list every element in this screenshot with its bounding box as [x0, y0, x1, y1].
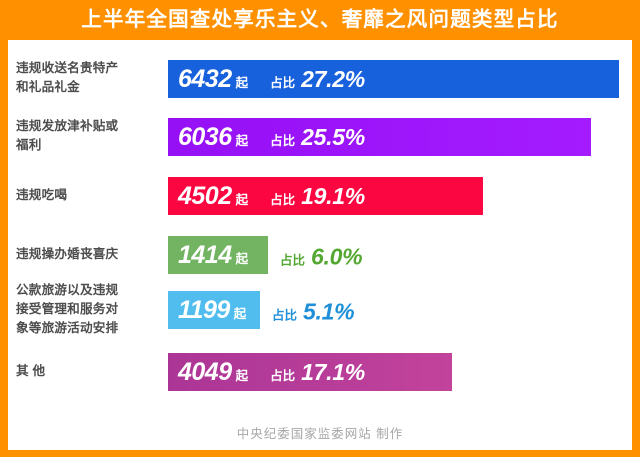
percent-value: 5.1% [303, 300, 354, 323]
percent-prefix: 占比 [270, 370, 295, 383]
bar-unit: 起 [236, 77, 249, 90]
bar-percent-group: 占比25.5% [270, 126, 365, 149]
bar-unit: 起 [236, 135, 249, 148]
bar-value-group: 1199起 [168, 298, 246, 323]
category-label: 违规操办婚丧喜庆 [16, 245, 166, 264]
bar-count: 1414 [178, 243, 232, 268]
bar-2: 6036起占比25.5% [168, 118, 591, 156]
bar-unit: 起 [236, 253, 249, 266]
bar-percent-group: 占比27.2% [270, 68, 365, 91]
bar-unit: 起 [236, 194, 249, 207]
bar-value-group: 4049起占比17.1% [168, 360, 365, 385]
bar-count: 6432 [178, 67, 232, 92]
chart-panel: 违规收送名贵特产 和礼品礼金6432起占比27.2%违规发放津补贴或 福利603… [8, 40, 632, 450]
percent-prefix: 占比 [272, 309, 297, 322]
title-bar: 上半年全国查处享乐主义、奢靡之风问题类型占比 [0, 0, 640, 40]
bar-unit: 起 [234, 308, 247, 321]
chart-row: 违规收送名贵特产 和礼品礼金6432起占比27.2% [8, 60, 632, 98]
chart-row: 违规发放津补贴或 福利6036起占比25.5% [8, 118, 632, 156]
percent-value: 19.1% [301, 185, 365, 208]
bar-value-group: 6432起占比27.2% [168, 67, 365, 92]
category-label: 违规收送名贵特产 和礼品礼金 [16, 59, 166, 97]
percent-prefix: 占比 [280, 254, 305, 267]
bar-percent-group: 占比5.1% [272, 300, 354, 323]
bar-count: 6036 [178, 125, 232, 150]
chart-row: 其 他4049起占比17.1% [8, 353, 632, 391]
percent-prefix: 占比 [270, 77, 295, 90]
bar-6: 4049起占比17.1% [168, 353, 452, 391]
percent-value: 6.0% [311, 245, 362, 268]
chart-row: 违规操办婚丧喜庆占比6.0%1414起 [8, 236, 632, 274]
bar-count: 4049 [178, 360, 232, 385]
bar-value-group: 6036起占比25.5% [168, 125, 365, 150]
bar-percent-group: 占比17.1% [270, 361, 365, 384]
bar-unit: 起 [236, 370, 249, 383]
percent-prefix: 占比 [270, 135, 295, 148]
bar-value-group: 1414起 [168, 243, 248, 268]
category-label: 违规发放津补贴或 福利 [16, 117, 166, 155]
category-label: 违规吃喝 [16, 186, 166, 205]
bar-percent-group: 占比19.1% [270, 185, 365, 208]
percent-value: 27.2% [301, 68, 365, 91]
infographic-root: 上半年全国查处享乐主义、奢靡之风问题类型占比 违规收送名贵特产 和礼品礼金643… [0, 0, 640, 457]
chart-row: 违规吃喝4502起占比19.1% [8, 177, 632, 215]
bar-5: 1199起 [168, 291, 260, 329]
bar-count: 4502 [178, 184, 232, 209]
bar-1: 6432起占比27.2% [168, 60, 619, 98]
page-title: 上半年全国查处享乐主义、奢靡之风问题类型占比 [81, 10, 558, 31]
bar-chart: 违规收送名贵特产 和礼品礼金6432起占比27.2%违规发放津补贴或 福利603… [8, 40, 632, 415]
bar-count: 1199 [178, 298, 230, 323]
bar-value-group: 4502起占比19.1% [168, 184, 365, 209]
category-label: 其 他 [16, 362, 166, 381]
percent-value: 17.1% [301, 361, 365, 384]
bar-percent-group: 占比6.0% [280, 245, 362, 268]
chart-row: 公款旅游以及违规 接受管理和服务对 象等旅游活动安排占比5.1%1199起 [8, 291, 632, 329]
percent-prefix: 占比 [270, 194, 295, 207]
category-label: 公款旅游以及违规 接受管理和服务对 象等旅游活动安排 [16, 281, 166, 338]
percent-value: 25.5% [301, 126, 365, 149]
credit-text: 中央纪委国家监委网站 制作 [237, 423, 403, 442]
bar-3: 4502起占比19.1% [168, 177, 483, 215]
bar-4: 1414起 [168, 236, 268, 274]
footer: 中央纪委国家监委网站 制作 [8, 415, 632, 450]
